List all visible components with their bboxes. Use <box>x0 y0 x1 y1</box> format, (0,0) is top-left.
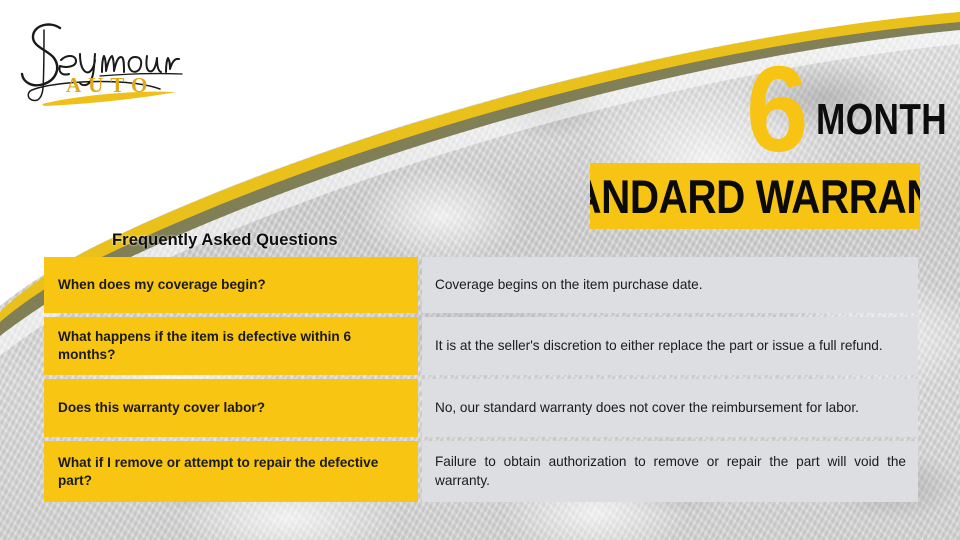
warranty-slide: AUTO 6 MONTH STANDARD WARRANTY Frequentl… <box>0 0 960 540</box>
standard-warranty-label: STANDARD WARRANTY <box>590 173 920 220</box>
table-row: Does this warranty cover labor? No, our … <box>44 379 918 437</box>
faq-question-cell: Does this warranty cover labor? <box>44 379 418 437</box>
faq-answer-text: No, our standard warranty does not cover… <box>435 399 906 417</box>
faq-answer-cell: It is at the seller's discretion to eith… <box>422 317 918 375</box>
table-row: When does my coverage begin? Coverage be… <box>44 257 918 313</box>
warranty-duration-block: 6 MONTH <box>736 48 926 160</box>
faq-heading: Frequently Asked Questions <box>112 231 338 250</box>
faq-answer-text: Coverage begins on the item purchase dat… <box>435 276 906 294</box>
faq-answer-cell: No, our standard warranty does not cover… <box>422 379 918 437</box>
faq-answer-text: It is at the seller's discretion to eith… <box>435 337 906 355</box>
faq-question-cell: What happens if the item is defective wi… <box>44 317 418 375</box>
faq-answer-cell: Failure to obtain authorization to remov… <box>422 441 918 502</box>
table-row: What if I remove or attempt to repair th… <box>44 441 918 502</box>
standard-warranty-banner: STANDARD WARRANTY <box>590 163 920 229</box>
faq-answer-text: Failure to obtain authorization to remov… <box>435 453 906 490</box>
duration-unit-label: MONTH <box>816 98 947 142</box>
faq-table: When does my coverage begin? Coverage be… <box>44 257 918 502</box>
faq-question-cell: When does my coverage begin? <box>44 257 418 313</box>
faq-question-text: When does my coverage begin? <box>58 276 266 294</box>
faq-question-text: What happens if the item is defective wi… <box>58 328 404 364</box>
duration-number: 6 <box>746 48 807 170</box>
faq-question-cell: What if I remove or attempt to repair th… <box>44 441 418 502</box>
seymour-auto-logo: AUTO <box>14 16 214 106</box>
faq-answer-cell: Coverage begins on the item purchase dat… <box>422 257 918 313</box>
table-row: What happens if the item is defective wi… <box>44 317 918 375</box>
faq-question-text: Does this warranty cover labor? <box>58 399 265 417</box>
faq-question-text: What if I remove or attempt to repair th… <box>58 454 404 490</box>
